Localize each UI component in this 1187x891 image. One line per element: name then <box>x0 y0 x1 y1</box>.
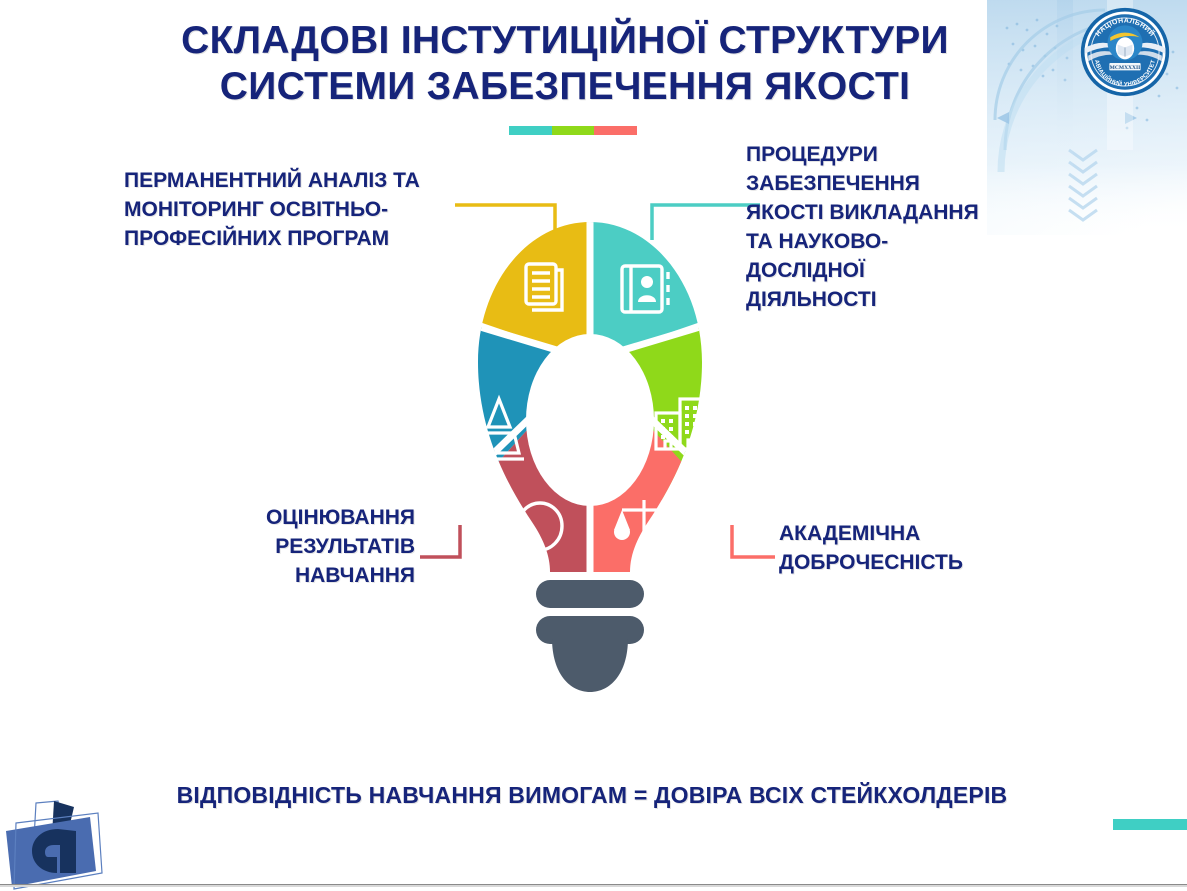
title-line-2: СИСТЕМИ ЗАБЕЗПЕЧЕННЯ ЯКОСТІ <box>95 64 1035 110</box>
lightbulb-infographic <box>440 200 740 720</box>
lightbulb-svg <box>440 200 740 720</box>
title-accent-bar <box>509 126 637 135</box>
angular-f-logo <box>2 795 124 891</box>
national-aviation-university-emblem: MCMXXXII НАЦІОНАЛЬНИЙ АВІАЦІЙНИЙ УНІВЕРС… <box>1079 6 1171 98</box>
bulb-base <box>536 580 644 692</box>
label-permanent-analysis: ПЕРМАНЕНТНИЙ АНАЛІЗ ТА МОНІТОРИНГ ОСВІТН… <box>124 166 474 253</box>
accent-segment-salmon <box>594 126 637 135</box>
bulb-base-cap <box>552 638 628 692</box>
title-line-1: СКЛАДОВІ ІНСТУТИЦІЙНОЇ СТРУКТУРИ <box>181 19 949 62</box>
accent-segment-teal <box>509 126 552 135</box>
bulb-base-ring-1 <box>536 580 644 608</box>
slide: MCMXXXII НАЦІОНАЛЬНИЙ АВІАЦІЙНИЙ УНІВЕРС… <box>0 0 1187 891</box>
label-quality-procedures: ПРОЦЕДУРИ ЗАБЕЗПЕЧЕННЯ ЯКОСТІ ВИКЛАДАННЯ… <box>746 140 996 314</box>
footer-rule <box>0 884 1187 887</box>
bottom-caption: ВІДПОВІДНІСТЬ НАВЧАННЯ ВИМОГАМ = ДОВІРА … <box>112 782 1072 809</box>
label-learning-outcomes: ОЦІНЮВАННЯ РЕЗУЛЬТАТІВ НАВЧАННЯ <box>195 503 415 590</box>
bulb-inner-core <box>526 334 654 506</box>
svg-text:MCMXXXII: MCMXXXII <box>1110 65 1141 71</box>
bottom-accent-bar <box>1113 819 1187 830</box>
slide-title: СКЛАДОВІ ІНСТУТИЦІЙНОЇ СТРУКТУРИ СИСТЕМИ… <box>95 18 1035 110</box>
label-academic-integrity: АКАДЕМІЧНА ДОБРОЧЕСНІСТЬ <box>779 519 1029 577</box>
accent-segment-green <box>552 126 595 135</box>
